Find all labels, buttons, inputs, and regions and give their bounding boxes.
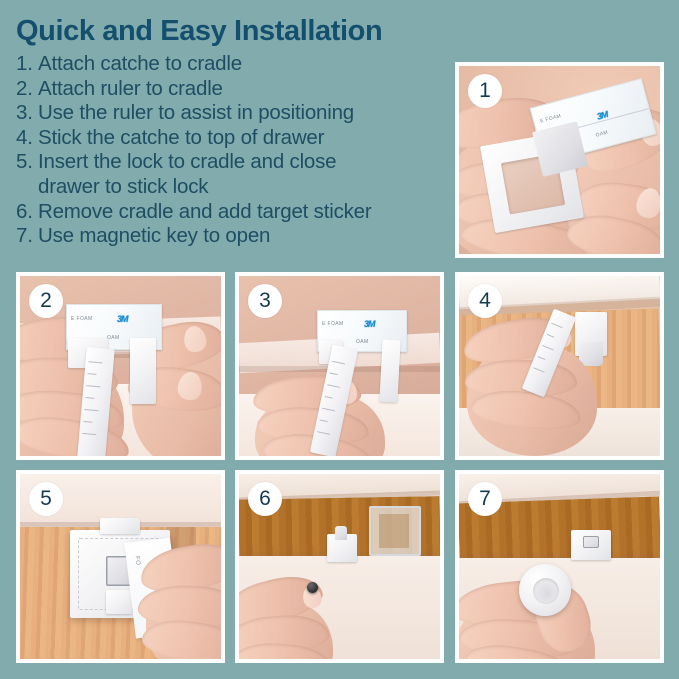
ruler-tick (538, 356, 546, 360)
ruler-tick (82, 433, 96, 435)
lock-slot (583, 536, 599, 548)
target-sticker (307, 582, 318, 593)
ruler-tick (542, 345, 554, 350)
ruler-tick (320, 419, 328, 422)
ruler-tick (87, 373, 96, 375)
foam-label-text: E FOAM (71, 316, 93, 322)
step-text: Attach ruler to cradle (38, 77, 456, 102)
panel-step-4: 4 (455, 272, 664, 460)
page-title: Quick and Easy Installation (16, 14, 456, 48)
step-item: 3. Use the ruler to assist in positionin… (16, 101, 456, 126)
panel-step-7: 7 (455, 470, 664, 663)
foam-label-text: E FOAM (322, 321, 344, 327)
step-text: Use the ruler to assist in positioning (38, 101, 456, 126)
photo-step-1: E FOAM 3M OAM 1 (459, 66, 660, 254)
step-text: drawer to stick lock (38, 175, 456, 200)
step-number: 5. (16, 150, 38, 175)
ruler-tick (330, 373, 338, 376)
step-badge: 3 (248, 284, 282, 318)
ruler-tick (332, 361, 345, 365)
brand-3m-logo: 3M (364, 319, 375, 329)
ruler-tick (86, 385, 100, 387)
step-text: Insert the lock to cradle and close (38, 150, 456, 175)
foam-label-text: E FOAM (540, 113, 562, 124)
ruler-tick (325, 396, 333, 399)
step-number: 2. (16, 77, 38, 102)
panel-step-3: E FOAM 3M OAM 3 (235, 272, 444, 460)
panel-step-2: E FOAM 3M OAM 2 (16, 272, 225, 460)
step-number: 6. (16, 200, 38, 225)
instructions-header: Quick and Easy Installation 1. Attach ca… (16, 14, 456, 254)
magnetic-key-center (533, 578, 559, 604)
step-badge: 7 (468, 482, 502, 516)
panel-step-5: FO 5 (16, 470, 225, 663)
step-item: 6. Remove cradle and add target sticker (16, 200, 456, 225)
step-item: 1. Attach catche to cradle (16, 52, 456, 77)
ruler-tick (322, 408, 335, 412)
panel-step-1: E FOAM 3M OAM 1 (455, 62, 664, 258)
photo-step-2: E FOAM 3M OAM 2 (20, 276, 221, 456)
catch-tab-top (100, 518, 140, 534)
step-text: Use magnetic key to open (38, 224, 456, 249)
step-item: 4. Stick the catche to top of drawer (16, 126, 456, 151)
cradle-window (379, 514, 409, 548)
catch-hook-tip (335, 526, 347, 540)
step-number: 1. (16, 52, 38, 77)
photo-step-5: FO 5 (20, 474, 221, 659)
step-number: 3. (16, 101, 38, 126)
liner-label-text: FO (134, 556, 141, 566)
step-text: Attach catche to cradle (38, 52, 456, 77)
lock-hook (106, 590, 132, 614)
photo-step-6: 6 (239, 474, 440, 659)
step-badge: 2 (29, 284, 63, 318)
ruler-tick (547, 334, 555, 338)
ruler-tick (533, 367, 545, 372)
foam-label-text-2: OAM (595, 130, 609, 139)
steps-list: 1. Attach catche to cradle 2. Attach rul… (16, 52, 456, 249)
step-text: Stick the catche to top of drawer (38, 126, 456, 151)
cradle-right-leg (379, 340, 400, 403)
step-text: Remove cradle and add target sticker (38, 200, 456, 225)
ruler-tick (551, 323, 563, 328)
ruler-tick (327, 384, 340, 388)
ruler-tick (84, 409, 98, 411)
step-badge: 4 (468, 284, 502, 318)
step-item-continuation: drawer to stick lock (16, 175, 456, 200)
step-badge: 6 (248, 482, 282, 516)
photo-step-3: E FOAM 3M OAM 3 (239, 276, 440, 456)
magnetic-key (519, 564, 571, 616)
photo-step-4: 4 (459, 276, 660, 456)
step-item: 2. Attach ruler to cradle (16, 77, 456, 102)
ruler-tick (85, 397, 94, 399)
step-badge: 1 (468, 74, 502, 108)
brand-3m-logo: 3M (117, 314, 128, 324)
ruler-tick (83, 421, 92, 423)
step-number: 4. (16, 126, 38, 151)
step-item: 5. Insert the lock to cradle and close (16, 150, 456, 175)
ruler-tick (317, 431, 330, 435)
ruler-tick (89, 361, 103, 363)
step-item: 7. Use magnetic key to open (16, 224, 456, 249)
panel-step-6: 6 (235, 470, 444, 663)
foam-label-text-2: OAM (356, 339, 369, 345)
cradle-right-leg (130, 338, 156, 404)
step-number: 7. (16, 224, 38, 249)
photo-step-7: 7 (459, 474, 660, 659)
step-badge: 5 (29, 482, 63, 516)
foam-label-text-2: OAM (107, 335, 120, 341)
